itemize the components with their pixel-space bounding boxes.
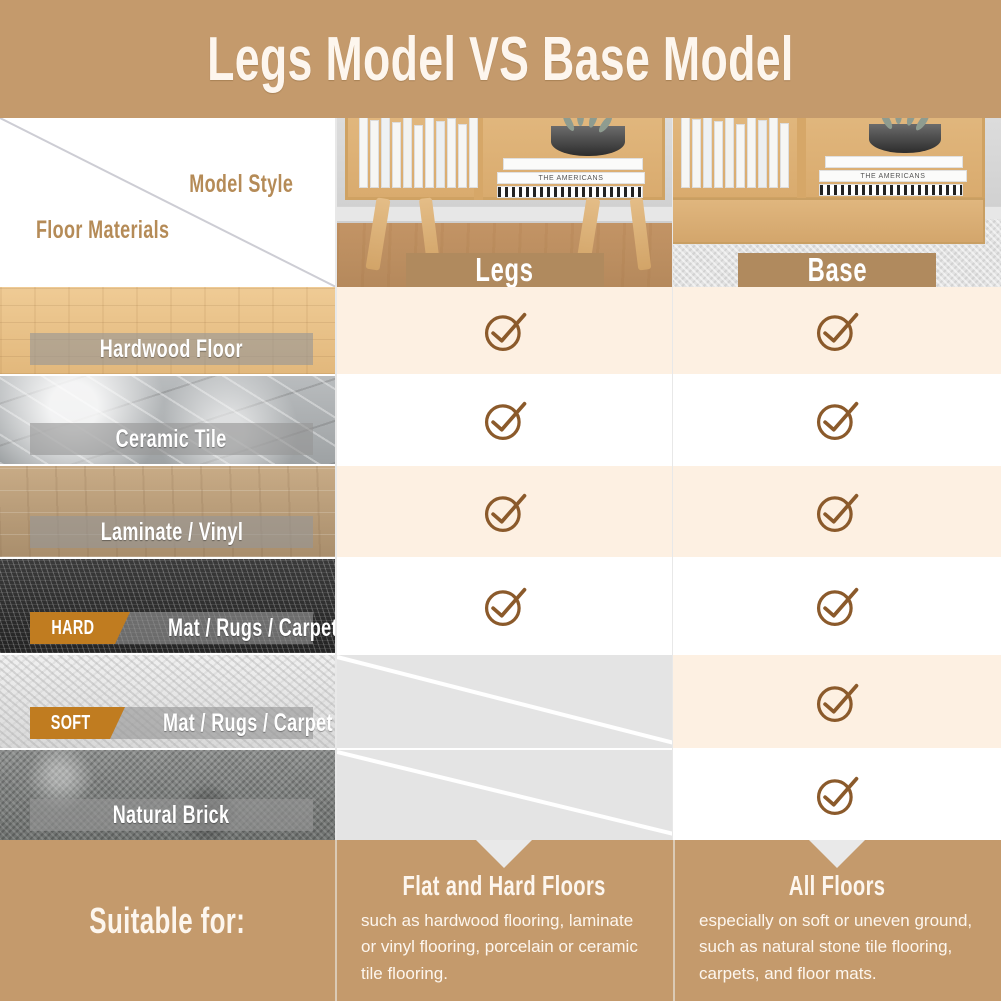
footer-base-heading-wrap: All Floors bbox=[673, 870, 1001, 902]
cabinet-base-plinth bbox=[673, 198, 985, 244]
cell-base-hardwood-floor bbox=[673, 287, 1001, 376]
materials-column: Model Style Floor Materials Hardwood Flo… bbox=[0, 118, 335, 840]
footer-suitable-for: Suitable for: bbox=[0, 840, 335, 1001]
cell-base-hard-mat-rugs-carpet bbox=[673, 559, 1001, 655]
material-label-band: Ceramic Tile bbox=[30, 423, 313, 455]
shelf-divider bbox=[797, 118, 806, 200]
book-stack: THE AMERICANS bbox=[497, 158, 645, 200]
corner-model-style-label: Model Style bbox=[189, 170, 293, 199]
material-label: Mat / Rugs / Carpet bbox=[168, 614, 335, 643]
corner-header-cell: Model Style Floor Materials bbox=[0, 118, 335, 287]
comparison-grid: Model Style Floor Materials Hardwood Flo… bbox=[0, 118, 1001, 840]
base-tag-label: Base bbox=[807, 251, 867, 287]
check-circle-icon bbox=[811, 676, 863, 728]
material-row-soft-mat-rugs-carpet: SOFT Mat / Rugs / Carpet bbox=[0, 655, 335, 750]
cell-legs-hard-mat-rugs-carpet bbox=[337, 559, 672, 655]
page-title: Legs Model VS Base Model bbox=[207, 24, 794, 95]
check-circle-icon bbox=[811, 580, 863, 632]
legs-product-photo: THE AMERICANS Legs bbox=[337, 118, 672, 287]
legs-tag: Legs bbox=[406, 253, 604, 287]
material-label-band: Natural Brick bbox=[30, 799, 313, 831]
triangle-down-icon bbox=[809, 840, 865, 868]
cell-base-soft-mat-rugs-carpet bbox=[673, 655, 1001, 750]
book-row bbox=[359, 118, 478, 188]
check-circle-icon bbox=[479, 486, 531, 538]
base-tag: Base bbox=[738, 253, 936, 287]
check-circle-icon bbox=[479, 580, 531, 632]
corner-floor-materials-label: Floor Materials bbox=[36, 216, 169, 245]
check-circle-icon bbox=[811, 394, 863, 446]
footer-summary: Suitable for: Flat and Hard Floors such … bbox=[0, 840, 1001, 1001]
hardness-badge-hard: HARD bbox=[30, 612, 115, 644]
chart-title-bar: Legs Model VS Base Model bbox=[0, 0, 1001, 118]
cell-legs-laminate-vinyl bbox=[337, 466, 672, 559]
material-label: Hardwood Floor bbox=[100, 335, 243, 364]
material-label: Laminate / Vinyl bbox=[100, 518, 242, 547]
check-circle-icon bbox=[811, 769, 863, 821]
material-row-hard-mat-rugs-carpet: HARD Mat / Rugs / Carpet bbox=[0, 559, 335, 655]
material-row-ceramic-tile: Ceramic Tile bbox=[0, 376, 335, 466]
book-row bbox=[681, 118, 789, 188]
footer-legs-summary: Flat and Hard Floors such as hardwood fl… bbox=[335, 840, 673, 1001]
cell-base-natural-brick bbox=[673, 750, 1001, 840]
badge-label: SOFT bbox=[51, 712, 91, 735]
material-label: Mat / Rugs / Carpet bbox=[163, 709, 333, 738]
decor-plant bbox=[879, 118, 937, 130]
decor-plant bbox=[561, 118, 621, 132]
material-row-laminate-vinyl: Laminate / Vinyl bbox=[0, 466, 335, 559]
check-circle-icon bbox=[479, 394, 531, 446]
legs-tag-label: Legs bbox=[475, 251, 533, 287]
footer-legs-body: such as hardwood flooring, laminate or v… bbox=[361, 908, 647, 987]
footer-base-heading: All Floors bbox=[789, 870, 886, 902]
cell-base-ceramic-tile bbox=[673, 376, 1001, 466]
material-label-band: HARD Mat / Rugs / Carpet bbox=[30, 612, 313, 644]
footer-base-body: especially on soft or uneven ground, suc… bbox=[699, 908, 975, 987]
material-row-natural-brick: Natural Brick bbox=[0, 750, 335, 840]
diagonal-strike-icon bbox=[337, 750, 672, 840]
material-label-band: SOFT Mat / Rugs / Carpet bbox=[30, 707, 313, 739]
legs-column: THE AMERICANS Legs bbox=[335, 118, 673, 840]
triangle-down-icon bbox=[476, 840, 532, 868]
footer-base-summary: All Floors especially on soft or uneven … bbox=[673, 840, 1001, 1001]
check-circle-icon bbox=[479, 305, 531, 357]
footer-legs-heading-wrap: Flat and Hard Floors bbox=[335, 870, 673, 902]
book-title: THE AMERICANS bbox=[497, 172, 645, 184]
comparison-chart: Legs Model VS Base Model Model Style Flo… bbox=[0, 0, 1001, 1001]
check-circle-icon bbox=[811, 305, 863, 357]
material-label-band: Laminate / Vinyl bbox=[30, 516, 313, 548]
book-stack: THE AMERICANS bbox=[819, 156, 967, 198]
cell-legs-ceramic-tile bbox=[337, 376, 672, 466]
material-label: Ceramic Tile bbox=[116, 425, 227, 454]
cell-legs-soft-mat-rugs-carpet bbox=[337, 655, 672, 750]
material-label: Natural Brick bbox=[113, 801, 230, 830]
material-row-hardwood-floor: Hardwood Floor bbox=[0, 287, 335, 376]
material-label-band: Hardwood Floor bbox=[30, 333, 313, 365]
hardness-badge-soft: SOFT bbox=[30, 707, 110, 739]
base-column: THE AMERICANS Base bbox=[673, 118, 1001, 840]
footer-legs-heading: Flat and Hard Floors bbox=[402, 870, 605, 902]
book-title: THE AMERICANS bbox=[819, 170, 967, 182]
cell-base-laminate-vinyl bbox=[673, 466, 1001, 559]
check-circle-icon bbox=[811, 486, 863, 538]
badge-label: HARD bbox=[51, 617, 94, 640]
cell-legs-hardwood-floor bbox=[337, 287, 672, 376]
base-product-photo: THE AMERICANS Base bbox=[673, 118, 1001, 287]
suitable-for-label: Suitable for: bbox=[90, 900, 246, 942]
diagonal-strike-icon bbox=[337, 655, 672, 750]
cell-legs-natural-brick bbox=[337, 750, 672, 840]
corner-diagonal-divider bbox=[0, 118, 335, 287]
